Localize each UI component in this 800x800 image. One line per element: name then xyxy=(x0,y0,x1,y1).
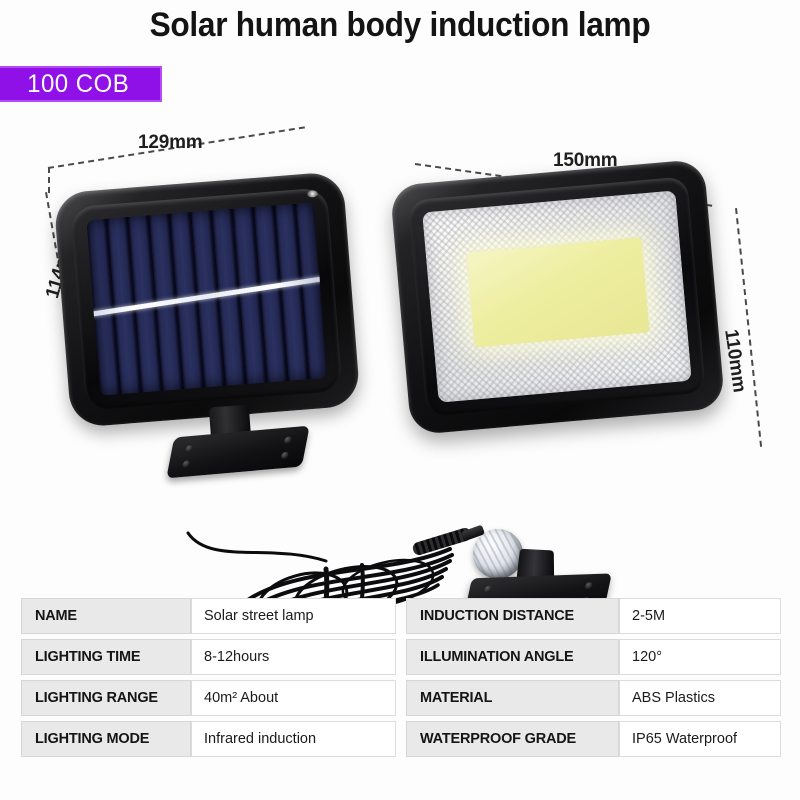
product-image-page: Solar human body induction lamp 100 COB … xyxy=(0,0,800,800)
spec-label: WATERPROOF GRADE xyxy=(406,721,619,757)
spec-label: INDUCTION DISTANCE xyxy=(406,598,619,634)
spec-group-right: MATERIAL ABS Plastics xyxy=(406,680,781,716)
spec-label: LIGHTING RANGE xyxy=(21,680,191,716)
cob-lamp-head xyxy=(390,159,726,436)
table-column-gap xyxy=(396,680,406,716)
table-row: NAME Solar street lamp INDUCTION DISTANC… xyxy=(21,598,781,634)
table-row: LIGHTING TIME 8-12hours ILLUMINATION ANG… xyxy=(21,639,781,675)
table-column-gap xyxy=(396,598,406,634)
specification-table: NAME Solar street lamp INDUCTION DISTANC… xyxy=(21,598,781,762)
spec-group-right: INDUCTION DISTANCE 2-5M xyxy=(406,598,781,634)
cob-count-badge-label: 100 COB xyxy=(27,70,129,99)
table-row: LIGHTING MODE Infrared induction WATERPR… xyxy=(21,721,781,757)
spec-group-left: NAME Solar street lamp xyxy=(21,598,396,634)
spec-value: IP65 Waterproof xyxy=(619,721,781,757)
spec-group-left: LIGHTING MODE Infrared induction xyxy=(21,721,396,757)
spec-group-left: LIGHTING RANGE 40m² About xyxy=(21,680,396,716)
page-title: Solar human body induction lamp xyxy=(28,6,772,45)
solar-panel-width-label: 129mm xyxy=(138,132,203,154)
solar-panel xyxy=(53,171,361,428)
product-illustration: 129mm 114mm 150mm 110mm xyxy=(0,110,800,580)
screw-hole-icon xyxy=(281,452,289,460)
spec-label: ILLUMINATION ANGLE xyxy=(406,639,619,675)
solar-panel-cells xyxy=(86,202,327,395)
screw-hole-icon xyxy=(585,582,593,589)
screw-hole-icon xyxy=(185,445,193,453)
spec-value: Infrared induction xyxy=(191,721,396,757)
spec-group-right: WATERPROOF GRADE IP65 Waterproof xyxy=(406,721,781,757)
solar-panel-mounting-plate xyxy=(166,426,309,479)
spec-label: LIGHTING TIME xyxy=(21,639,191,675)
spec-value: 40m² About xyxy=(191,680,396,716)
lamp-head-height-label: 110mm xyxy=(719,328,750,394)
spec-label: LIGHTING MODE xyxy=(21,721,191,757)
spec-value: 8-12hours xyxy=(191,639,396,675)
screw-hole-icon xyxy=(284,436,292,444)
solar-panel-busbar xyxy=(86,275,327,317)
spec-label: MATERIAL xyxy=(406,680,619,716)
spec-value: 120° xyxy=(619,639,781,675)
lamp-head-reflector xyxy=(422,190,692,402)
cob-led-chip xyxy=(466,237,649,347)
spec-label: NAME xyxy=(21,598,191,634)
table-column-gap xyxy=(396,721,406,757)
cob-count-badge: 100 COB xyxy=(0,66,162,102)
screw-hole-icon xyxy=(182,460,190,468)
spec-group-right: ILLUMINATION ANGLE 120° xyxy=(406,639,781,675)
spec-value: Solar street lamp xyxy=(191,598,396,634)
solar-panel-width-left-tick xyxy=(48,167,50,193)
spec-value: ABS Plastics xyxy=(619,680,781,716)
table-column-gap xyxy=(396,639,406,675)
spec-group-left: LIGHTING TIME 8-12hours xyxy=(21,639,396,675)
spec-value: 2-5M xyxy=(619,598,781,634)
table-row: LIGHTING RANGE 40m² About MATERIAL ABS P… xyxy=(21,680,781,716)
